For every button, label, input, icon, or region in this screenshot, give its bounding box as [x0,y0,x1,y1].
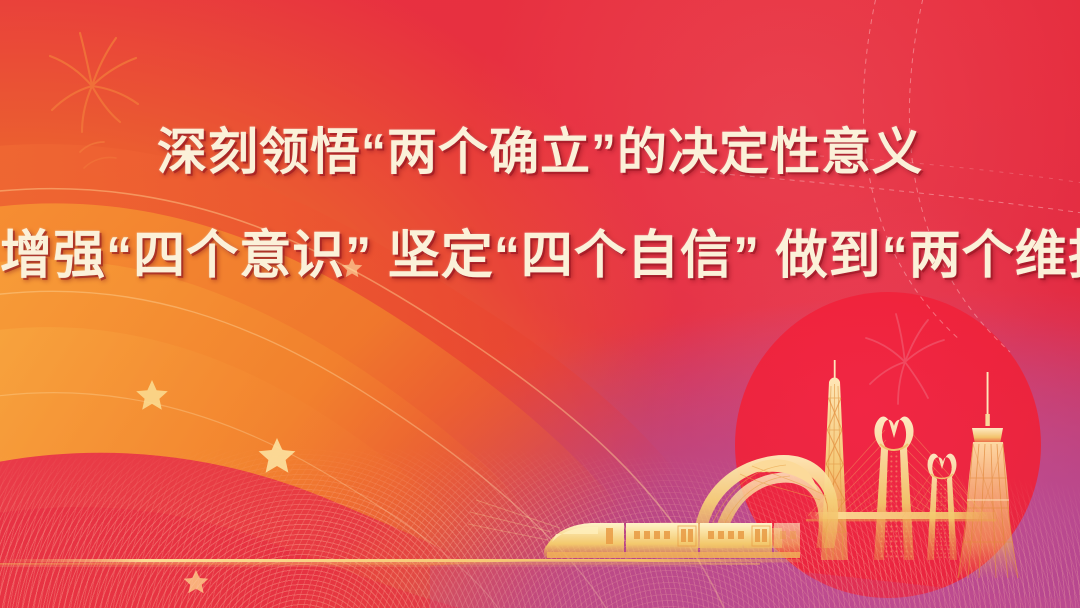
title-line-1: 深刻领悟“两个确立”的决定性意义 [0,126,1080,179]
title-line-2: 增强“四个意识” 坚定“四个自信” 做到“两个维护” [0,229,1080,284]
title-block: 深刻领悟“两个确立”的决定性意义 增强“四个意识” 坚定“四个自信” 做到“两个… [0,126,1080,283]
poster-canvas: 深刻领悟“两个确立”的决定性意义 增强“四个意识” 坚定“四个自信” 做到“两个… [0,0,1080,608]
dotted-wave-mesh [0,418,1080,608]
firework-burst-icon [866,314,944,404]
